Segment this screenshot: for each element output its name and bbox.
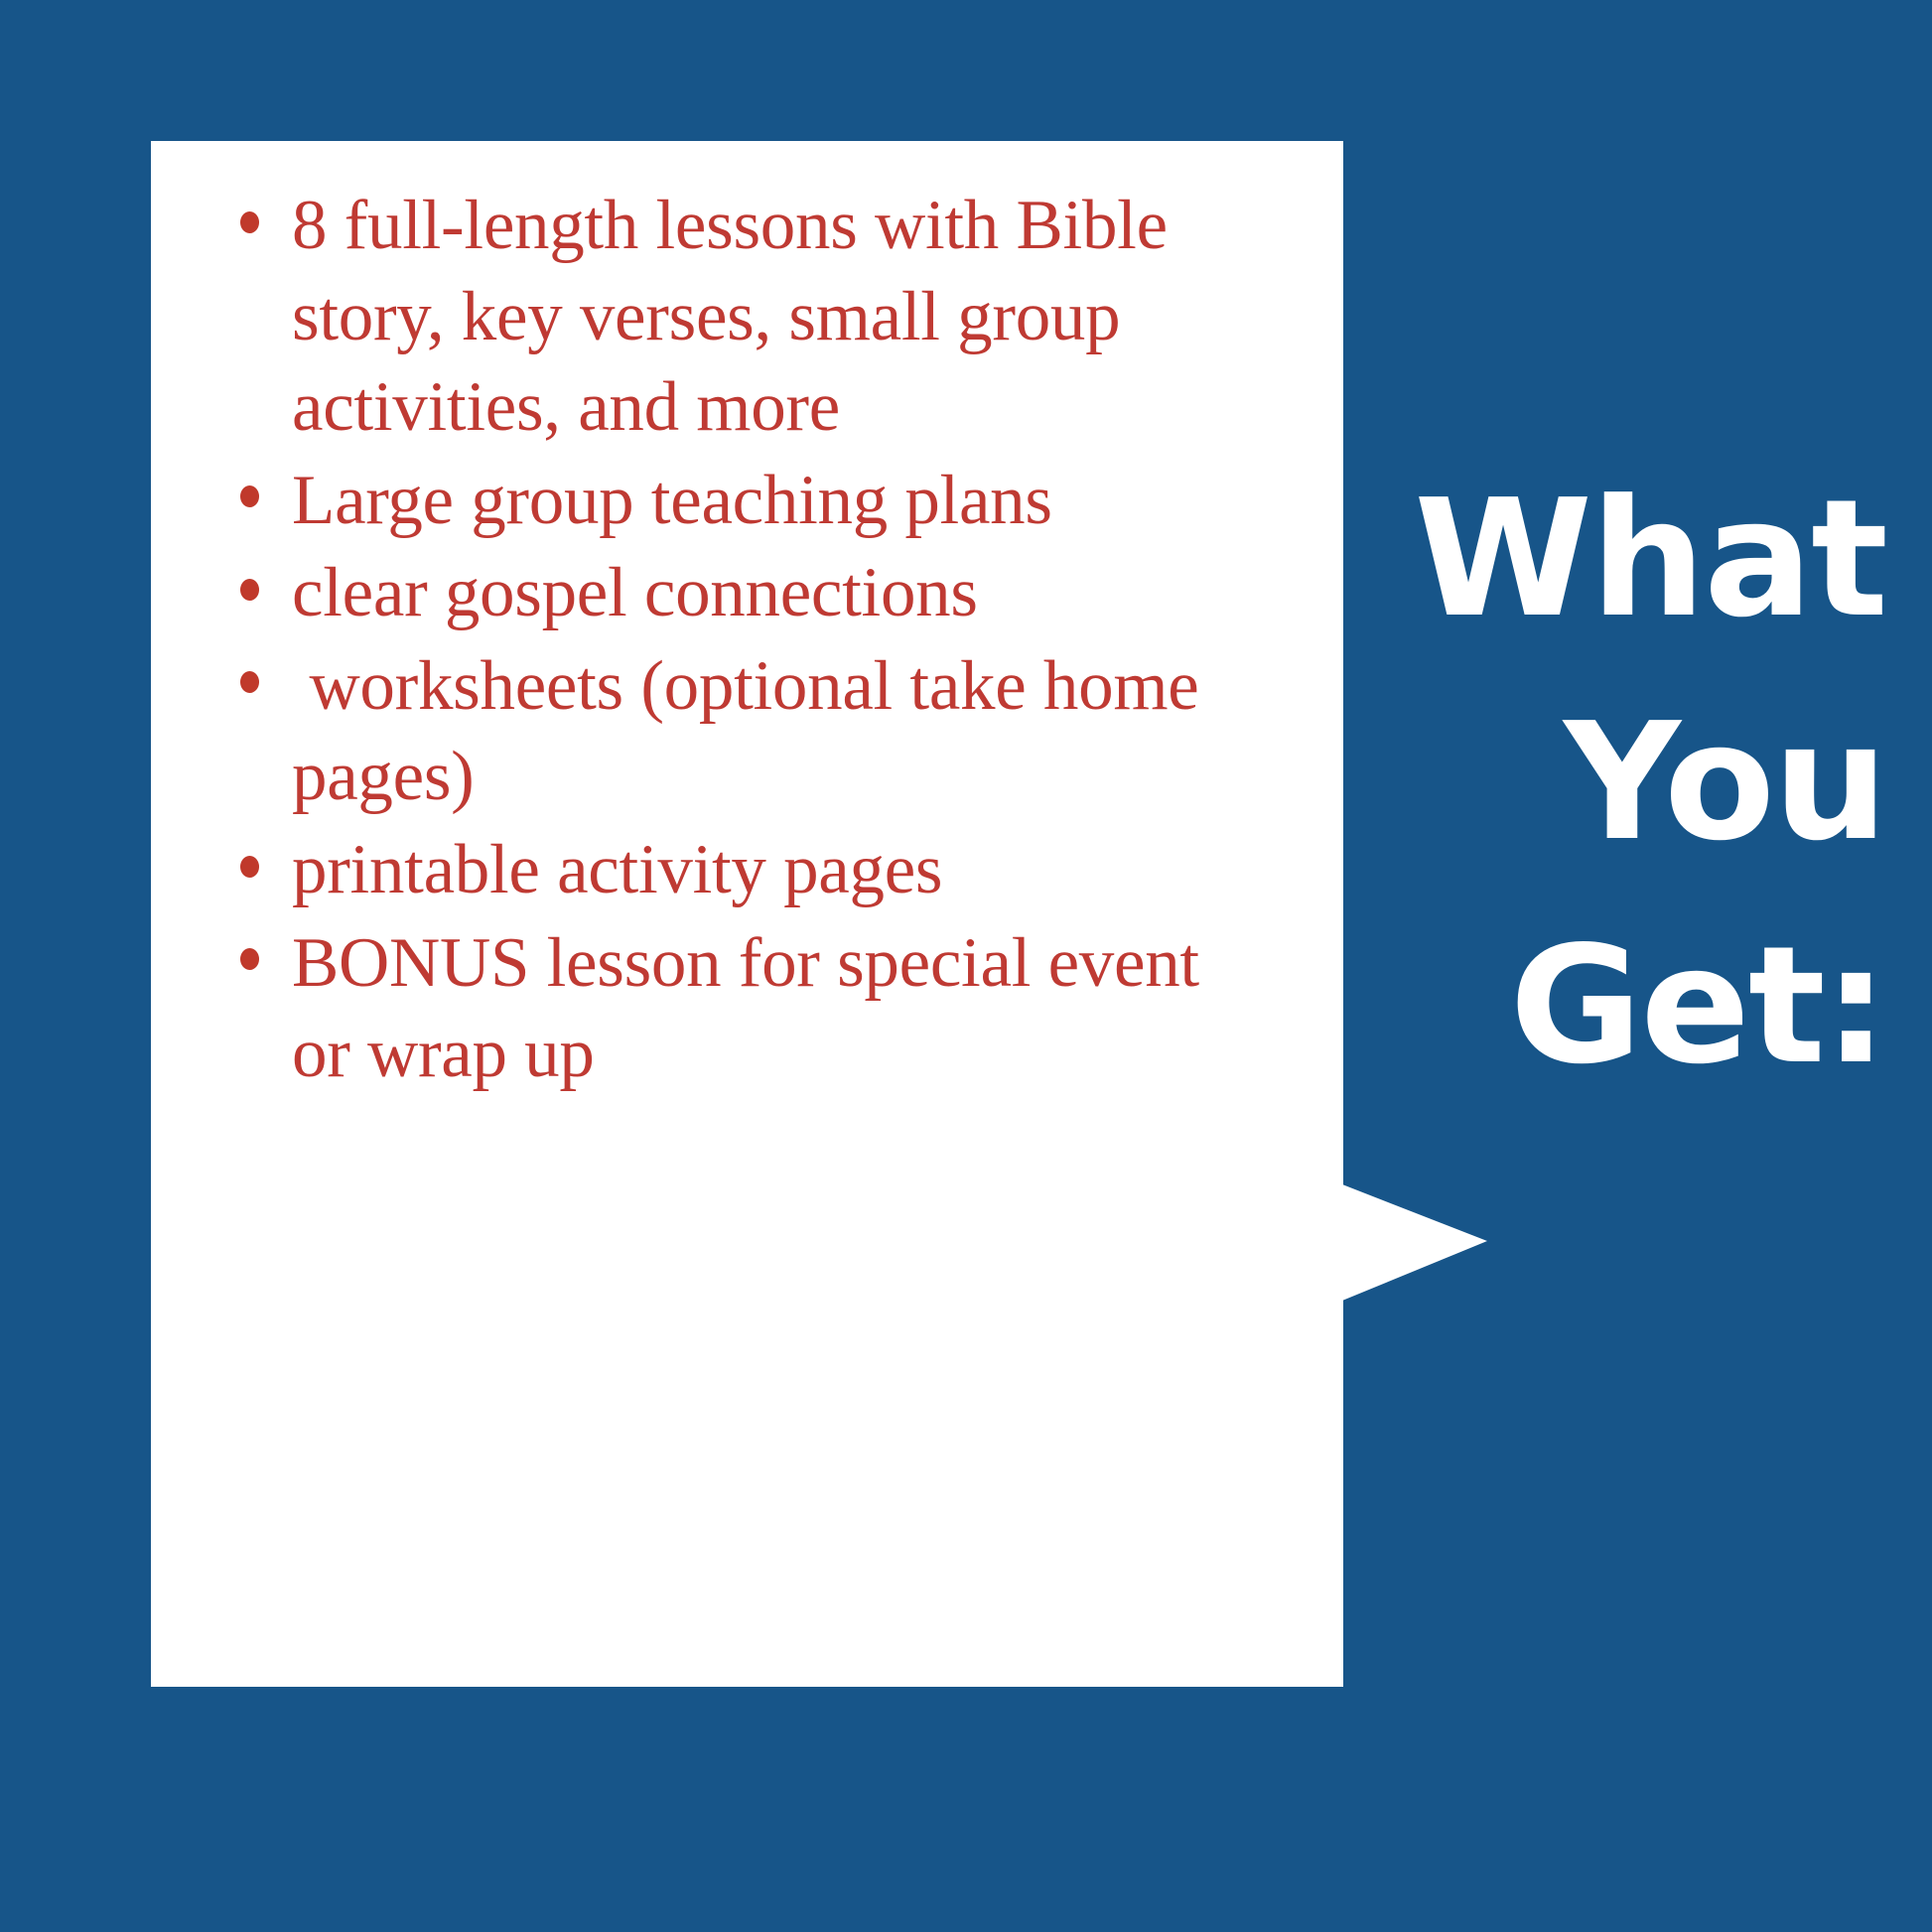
page-title-line-2: You <box>1132 672 1886 896</box>
page-title: What You Get: <box>1132 449 1886 1119</box>
bullet-dot-icon <box>240 485 259 507</box>
list-item-label: clear gospel connections <box>292 548 1227 639</box>
list-item-label: printable activity pages <box>292 825 1227 916</box>
list-item: clear gospel connections <box>234 548 1227 639</box>
list-item: BONUS lesson for special event or wrap u… <box>234 918 1227 1100</box>
bullet-dot-icon <box>240 948 259 970</box>
page-title-line-1: What <box>1132 449 1886 672</box>
list-item: printable activity pages <box>234 825 1227 916</box>
page-title-line-3: Get: <box>1132 896 1886 1119</box>
bullet-dot-icon <box>240 856 259 878</box>
speech-bubble-tail-icon <box>1342 1184 1487 1301</box>
list-item-label: Large group teaching plans <box>292 456 1227 547</box>
list-item-label: BONUS lesson for special event or wrap u… <box>292 918 1227 1100</box>
list-item: 8 full-length lessons with Bible story, … <box>234 181 1227 454</box>
bullet-dot-icon <box>240 211 259 233</box>
features-bullet-list: 8 full-length lessons with Bible story, … <box>234 181 1227 1102</box>
bullet-dot-icon <box>240 671 259 693</box>
list-item: worksheets (optional take home pages) <box>234 641 1227 823</box>
list-item-label: 8 full-length lessons with Bible story, … <box>292 181 1227 454</box>
poster-canvas: 8 full-length lessons with Bible story, … <box>0 0 1932 1932</box>
bullet-dot-icon <box>240 579 259 601</box>
list-item-label: worksheets (optional take home pages) <box>292 641 1227 823</box>
list-item: Large group teaching plans <box>234 456 1227 547</box>
